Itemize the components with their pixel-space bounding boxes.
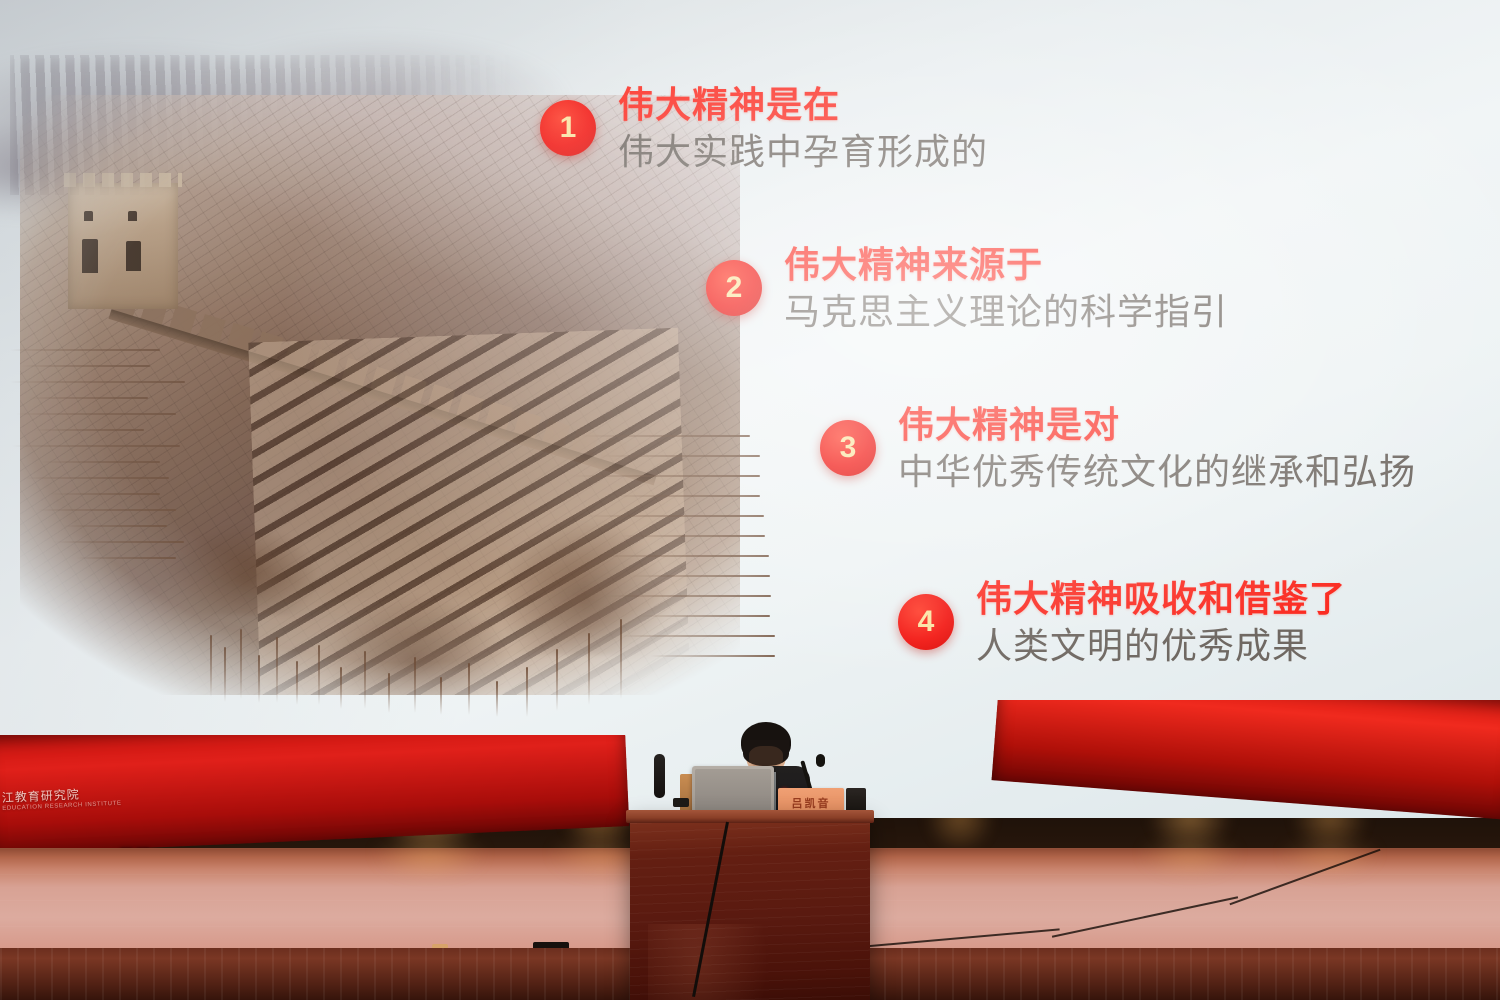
lectern-top-surface bbox=[626, 810, 874, 823]
item-heading-1: 伟大精神是在 bbox=[618, 84, 988, 126]
item-heading-3: 伟大精神是对 bbox=[898, 404, 1416, 446]
presentation-photo: 1 伟大精神是在 伟大实践中孕育形成的 2 伟大精神来源于 马克思主义理论的科学… bbox=[0, 0, 1500, 1000]
laptop-screen bbox=[692, 766, 774, 816]
projection-screen: 1 伟大精神是在 伟大实践中孕育形成的 2 伟大精神来源于 马克思主义理论的科学… bbox=[0, 0, 1500, 818]
number-badge-2: 2 bbox=[706, 260, 762, 316]
slide-bullet-list: 1 伟大精神是在 伟大实践中孕育形成的 2 伟大精神来源于 马克思主义理论的科学… bbox=[0, 0, 1500, 818]
slide-item-4: 4 伟大精神吸收和借鉴了 人类文明的优秀成果 bbox=[898, 578, 1346, 667]
item-subheading-3: 中华优秀传统文化的继承和弘扬 bbox=[898, 450, 1416, 493]
name-placard-text: 吕凯音 bbox=[792, 795, 831, 811]
microphone-capsule bbox=[816, 754, 825, 767]
item-subheading-1: 伟大实践中孕育形成的 bbox=[618, 130, 988, 173]
item-subheading-4: 人类文明的优秀成果 bbox=[976, 624, 1346, 667]
podium-device bbox=[673, 798, 689, 807]
item-subheading-2: 马克思主义理论的科学指引 bbox=[784, 290, 1228, 333]
podium-and-presenter: 吕凯音 bbox=[630, 722, 900, 1000]
slide-item-1: 1 伟大精神是在 伟大实践中孕育形成的 bbox=[540, 84, 988, 173]
number-badge-1: 1 bbox=[540, 100, 596, 156]
slide-item-3: 3 伟大精神是对 中华优秀传统文化的继承和弘扬 bbox=[820, 404, 1416, 493]
slide-item-2: 2 伟大精神来源于 马克思主义理论的科学指引 bbox=[706, 244, 1228, 333]
item-heading-2: 伟大精神来源于 bbox=[784, 244, 1228, 286]
number-badge-3: 3 bbox=[820, 420, 876, 476]
number-badge-4: 4 bbox=[898, 594, 954, 650]
item-heading-4: 伟大精神吸收和借鉴了 bbox=[976, 578, 1346, 620]
lectern-wood-grain bbox=[630, 823, 870, 1000]
presenter-face-shadow bbox=[749, 746, 783, 768]
microphone-stand-left bbox=[654, 754, 665, 798]
red-banner-right bbox=[990, 700, 1500, 820]
